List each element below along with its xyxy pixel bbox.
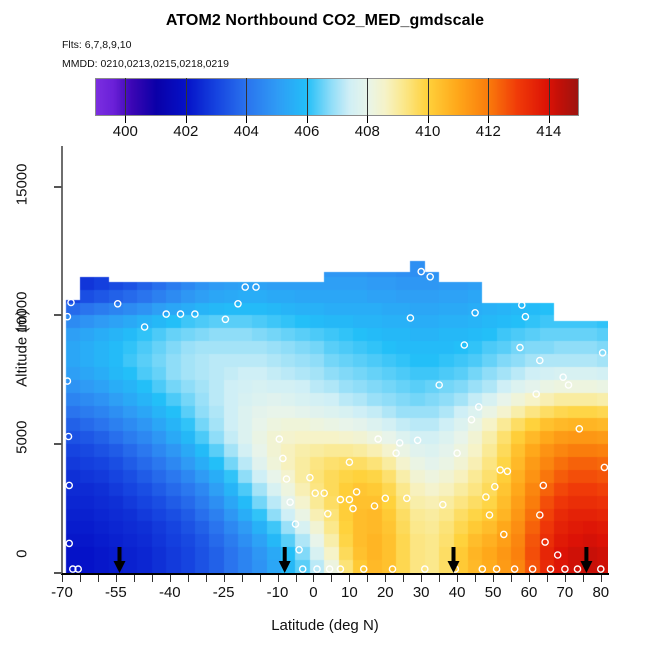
colorbar-tick-label: 408 — [355, 123, 380, 140]
observation-marker — [492, 484, 498, 490]
observation-marker — [280, 455, 286, 461]
x-axis-title: Latitude (deg N) — [0, 617, 650, 634]
x-axis-tick-label: 50 — [485, 584, 502, 601]
colorbar-tick-label: 402 — [173, 123, 198, 140]
observation-marker — [253, 284, 259, 290]
x-axis-tick — [511, 575, 512, 582]
observation-marker — [512, 566, 518, 572]
observation-marker — [537, 357, 543, 363]
observation-marker — [192, 311, 198, 317]
observation-marker — [276, 436, 282, 442]
observation-marker — [542, 539, 548, 545]
x-axis-tick — [349, 575, 350, 582]
colorbar-tick — [367, 116, 368, 123]
x-axis-tick — [278, 575, 279, 582]
x-axis-tick — [601, 575, 602, 582]
observation-marker — [517, 345, 523, 351]
x-axis-tick — [313, 575, 314, 582]
observation-marker — [66, 540, 72, 546]
y-axis-tick-label: 15000 — [14, 163, 31, 207]
observation-marker — [307, 475, 313, 481]
colorbar-tick — [186, 116, 187, 123]
colorbar-tick-label: 414 — [536, 123, 561, 140]
y-axis-title: Altitude (m) — [14, 249, 31, 449]
observation-marker — [407, 315, 413, 321]
colorbar-tick-label: 400 — [113, 123, 138, 140]
observation-marker — [519, 302, 525, 308]
colorbar-tick-label: 410 — [415, 123, 440, 140]
observation-marker — [327, 566, 333, 572]
observation-marker — [397, 440, 403, 446]
observation-marker — [565, 382, 571, 388]
y-axis-tick — [54, 186, 62, 188]
observation-marker — [504, 468, 510, 474]
observation-marker — [350, 506, 356, 512]
colorbar-tick-label: 412 — [476, 123, 501, 140]
x-axis-tick — [242, 575, 243, 582]
observation-marker — [422, 566, 428, 572]
observation-marker — [65, 433, 71, 439]
x-axis-tick — [367, 575, 368, 582]
observation-marker — [547, 566, 553, 572]
observation-marker — [287, 499, 293, 505]
x-axis-tick — [80, 575, 81, 582]
observation-marker — [452, 566, 458, 572]
x-axis-tick — [170, 575, 171, 582]
observation-marker — [479, 566, 485, 572]
observation-marker — [337, 566, 343, 572]
x-axis-tick — [152, 575, 153, 582]
observation-marker — [371, 503, 377, 509]
observation-marker — [404, 495, 410, 501]
observation-marker — [537, 512, 543, 518]
observation-marker — [483, 494, 489, 500]
x-axis-tick — [188, 575, 189, 582]
observation-marker — [427, 274, 433, 280]
observation-marker — [560, 374, 566, 380]
x-axis-tick-label: -10 — [267, 584, 289, 601]
x-axis-tick — [224, 575, 225, 582]
observation-marker — [576, 426, 582, 432]
observation-marker — [497, 467, 503, 473]
observation-marker — [440, 502, 446, 508]
observation-marker — [555, 552, 561, 558]
page-title: ATOM2 Northbound CO2_MED_gmdscale — [0, 12, 650, 30]
x-axis-tick-label: 80 — [592, 584, 609, 601]
x-axis-tick — [116, 575, 117, 582]
colorbar-gradient — [95, 78, 579, 116]
colorbar-tick — [549, 116, 550, 123]
observation-marker — [454, 450, 460, 456]
observation-marker — [346, 497, 352, 503]
observation-marker — [382, 495, 388, 501]
observation-marker — [325, 511, 331, 517]
observation-marker — [472, 310, 478, 316]
colorbar-tick-label: 406 — [294, 123, 319, 140]
observation-marker — [321, 490, 327, 496]
observation-marker — [389, 566, 395, 572]
observation-marker — [66, 482, 72, 488]
observation-marker — [468, 417, 474, 423]
x-axis-tick — [134, 575, 135, 582]
x-axis-tick-label: 10 — [341, 584, 358, 601]
x-axis-tick — [331, 575, 332, 582]
observation-marker — [64, 314, 70, 320]
x-axis-tick — [439, 575, 440, 582]
observation-marker — [222, 316, 228, 322]
x-axis-tick — [403, 575, 404, 582]
observation-marker — [142, 324, 148, 330]
observation-marker — [583, 314, 589, 320]
x-axis-tick — [457, 575, 458, 582]
observation-marker — [562, 566, 568, 572]
y-axis-tick — [54, 314, 62, 316]
observation-marker — [64, 378, 70, 384]
observation-marker — [375, 436, 381, 442]
observation-marker — [461, 342, 467, 348]
colorbar-tick — [125, 116, 126, 123]
x-axis-tick-label: 30 — [413, 584, 430, 601]
x-axis-tick — [98, 575, 99, 582]
x-axis-tick — [385, 575, 386, 582]
x-axis-tick — [296, 575, 297, 582]
observation-marker — [486, 512, 492, 518]
observation-marker — [300, 566, 306, 572]
observation-markers — [62, 148, 608, 573]
observation-marker — [314, 566, 320, 572]
colorbar — [95, 78, 579, 116]
observation-marker — [346, 459, 352, 465]
observation-marker — [501, 531, 507, 537]
observation-marker — [312, 490, 318, 496]
y-axis-tick — [54, 443, 62, 445]
plot-page: ATOM2 Northbound CO2_MED_gmdscale Flts: … — [0, 0, 650, 650]
colorbar-tick-label: 404 — [234, 123, 259, 140]
observation-marker — [115, 301, 121, 307]
observation-marker — [242, 284, 248, 290]
colorbar-tick — [307, 116, 308, 123]
colorbar-tick — [246, 116, 247, 123]
observation-marker — [418, 269, 424, 275]
heatmap-plot-area — [62, 148, 608, 573]
x-axis-tick-label: 40 — [449, 584, 466, 601]
observation-marker — [283, 476, 289, 482]
x-axis-tick-label: 60 — [521, 584, 538, 601]
observation-marker — [292, 521, 298, 527]
observation-marker — [522, 314, 528, 320]
x-axis-tick — [62, 575, 63, 582]
x-axis-tick-label: -55 — [105, 584, 127, 601]
x-axis-tick-label: 70 — [557, 584, 574, 601]
observation-marker — [235, 301, 241, 307]
x-axis-tick — [565, 575, 566, 582]
observation-marker — [540, 482, 546, 488]
x-axis-tick — [493, 575, 494, 582]
colorbar-tick — [428, 116, 429, 123]
observation-marker — [533, 391, 539, 397]
observation-marker — [68, 299, 74, 305]
x-axis-tick — [583, 575, 584, 582]
observation-marker — [393, 450, 399, 456]
x-axis-tick-label: 20 — [377, 584, 394, 601]
x-axis-tick-label: 0 — [309, 584, 317, 601]
observation-marker — [296, 547, 302, 553]
observation-marker — [494, 566, 500, 572]
observation-marker — [574, 566, 580, 572]
observation-marker — [163, 311, 169, 317]
observation-marker — [361, 566, 367, 572]
y-axis-line — [61, 146, 63, 575]
observation-marker — [177, 311, 183, 317]
x-axis-tick — [529, 575, 530, 582]
x-axis-tick-labels: -70-55-40-25-1001020304050607080 — [0, 584, 650, 608]
observation-marker — [530, 566, 536, 572]
x-axis-tick-label: -25 — [213, 584, 235, 601]
x-axis-tick — [547, 575, 548, 582]
flights-annotation: Flts: 6,7,8,9,10 — [62, 39, 131, 51]
observation-marker — [600, 350, 606, 356]
observation-marker — [601, 464, 607, 470]
observation-marker — [598, 566, 604, 572]
x-axis-tick-label: -70 — [51, 584, 73, 601]
observation-marker — [415, 437, 421, 443]
dates-annotation: MMDD: 0210,0213,0215,0218,0219 — [62, 58, 229, 70]
colorbar-tick — [488, 116, 489, 123]
observation-marker — [354, 489, 360, 495]
observation-marker — [337, 497, 343, 503]
x-axis-tick-label: -40 — [159, 584, 181, 601]
x-axis-tick — [206, 575, 207, 582]
colorbar-tick-labels: 400402404406408410412414 — [95, 123, 579, 145]
y-axis-tick — [54, 572, 62, 574]
observation-marker — [476, 404, 482, 410]
x-axis-tick — [421, 575, 422, 582]
x-axis-line — [61, 573, 609, 575]
observation-marker — [436, 382, 442, 388]
x-axis-tick — [260, 575, 261, 582]
observation-marker — [591, 311, 597, 317]
x-axis-tick — [475, 575, 476, 582]
